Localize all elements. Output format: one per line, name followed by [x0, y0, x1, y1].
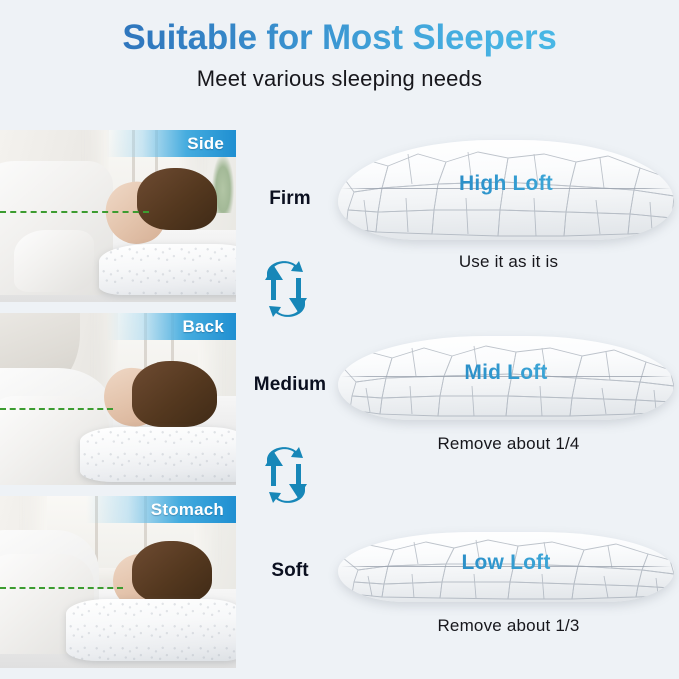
firmness-label-soft: Soft: [242, 560, 338, 582]
sleep-position-card-side: Side: [0, 130, 236, 302]
page-title: Suitable for Most Sleepers: [0, 18, 679, 58]
pose-banner-back: Back: [106, 313, 236, 340]
loft-label-mid: Mid Loft: [338, 361, 674, 385]
caption-medium: Remove about 1/4: [338, 434, 679, 454]
content-area: Side Back: [0, 130, 679, 679]
loft-options-column: Firm: [240, 130, 679, 679]
caption-soft: Remove about 1/3: [338, 616, 679, 636]
cycle-arrows-icon: [258, 258, 314, 320]
page-subtitle: Meet various sleeping needs: [0, 66, 679, 92]
pose-label: Stomach: [151, 500, 224, 520]
caption-firm: Use it as it is: [338, 252, 679, 272]
page-header: Suitable for Most Sleepers Meet various …: [0, 0, 679, 92]
pose-label: Back: [183, 317, 224, 337]
sleep-position-card-back: Back: [0, 313, 236, 485]
sleep-position-photo-column: Side Back: [0, 130, 236, 679]
loft-row-soft: Soft: [240, 502, 679, 667]
loft-label-high: High Loft: [338, 172, 674, 196]
pillow-low-loft: Low Loft: [338, 532, 674, 602]
alignment-line-stomach: [0, 587, 123, 589]
pose-banner-side: Side: [106, 130, 236, 157]
sleep-position-card-stomach: Stomach: [0, 496, 236, 668]
alignment-line-side: [0, 211, 149, 213]
firmness-label-firm: Firm: [242, 188, 338, 210]
alignment-line-back: [0, 408, 113, 410]
pose-label: Side: [187, 134, 224, 154]
pillow-high-loft: High Loft: [338, 140, 674, 240]
cycle-arrows-icon: [258, 444, 314, 506]
pose-banner-stomach: Stomach: [86, 496, 236, 523]
loft-label-low: Low Loft: [338, 551, 674, 575]
pillow-mid-loft: Mid Loft: [338, 336, 674, 420]
firmness-label-medium: Medium: [242, 374, 338, 396]
